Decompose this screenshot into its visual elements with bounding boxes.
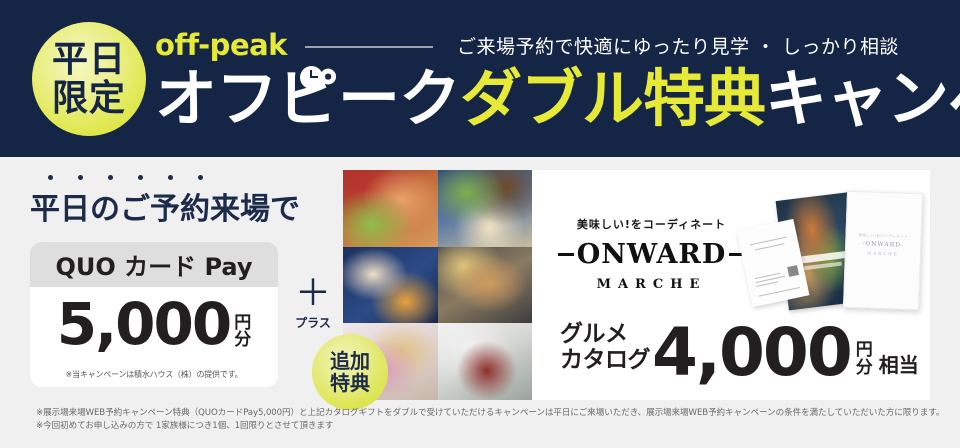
- offpeak-label: off-peak: [155, 28, 287, 62]
- food-photo-roast-pork: [438, 247, 533, 324]
- onward-logo-block: 美味しい!をコーディネート ONWARD MARCHE: [554, 216, 749, 292]
- onward-logo: ONWARD: [554, 239, 749, 270]
- dot: [108, 175, 113, 180]
- gourmet-label-1: グルメ: [560, 322, 650, 348]
- title-part-2: ダブル特典: [460, 60, 765, 138]
- additional-bonus-badge: 追加 特典: [312, 334, 388, 410]
- gourmet-equivalent: 相当: [879, 349, 919, 378]
- divider-rule: [305, 46, 433, 48]
- add-badge-line-1: 追加: [330, 350, 370, 372]
- quo-section: 平日のご予約来場で QUO カード Pay 5,000 円 分 ※当キャンペーン…: [30, 175, 310, 387]
- weekday-only-badge: 平日 限定: [32, 22, 146, 136]
- quo-unit-bottom: 分: [234, 332, 251, 349]
- food-photo-salad-drinks: [438, 170, 533, 247]
- plus-icon: ＋: [290, 279, 336, 309]
- brand-name: ONWARD: [577, 239, 727, 270]
- dot: [198, 175, 203, 180]
- dot: [168, 175, 173, 180]
- offpeak-row: off-peak ご来場予約で快適にゆったり見学 ・ しっかり相談: [155, 28, 945, 62]
- food-photo-beef-tataki: [438, 323, 533, 400]
- left-lead-text: 平日のご予約来場で: [30, 184, 310, 228]
- gourmet-label: グルメ カタログ: [560, 322, 650, 374]
- catalog-photo-sublogo: [804, 262, 842, 271]
- add-badge-line-2: 特典: [330, 372, 370, 394]
- dot: [78, 175, 83, 180]
- clock-hand-minute: [311, 76, 318, 78]
- footer-line-1: ※展示場来場WEB予約キャンペーン特典（QUOカードPay5,000円）と上記カ…: [36, 407, 936, 420]
- quo-amount: 5,000: [57, 295, 230, 353]
- gourmet-label-2: カタログ: [560, 348, 650, 374]
- badge-line-1: 平日: [52, 42, 126, 78]
- onward-marche-panel: 美味しい!をコーディネート ONWARD MARCHE: [532, 170, 930, 400]
- logo-bar-left: [558, 253, 574, 256]
- banner-header: 平日 限定 off-peak ご来場予約で快適にゆったり見学 ・ しっかり相談 …: [0, 0, 960, 157]
- qr-code-icon: [787, 265, 799, 277]
- gourmet-unit-bottom: 分: [856, 359, 873, 377]
- quo-card-body: 5,000 円 分 ※当キャンペーンは積水ハウス（株）の提供です。: [30, 287, 278, 387]
- catalog-white-sub: MARCHE: [846, 250, 920, 258]
- footer-line-2: ※今回初めてお申し込みの方で 1家族様につき1個、1回限りとさせて頂きます: [36, 420, 936, 433]
- dot: [48, 175, 53, 180]
- plus-label: プラス: [290, 314, 336, 331]
- brand-sub: MARCHE: [554, 277, 749, 292]
- food-photo-pumpkin-soup: [343, 247, 438, 324]
- clock-icon: [300, 66, 323, 89]
- promo-banner: 平日 限定 off-peak ご来場予約で快適にゆったり見学 ・ しっかり相談 …: [0, 0, 960, 448]
- gourmet-amount: 4,000: [652, 323, 851, 383]
- card-line: [755, 243, 785, 250]
- gourmet-amount-row: グルメ カタログ 4,000 円 分 相当: [560, 322, 919, 383]
- footer-disclaimer: ※展示場来場WEB予約キャンペーン特典（QUOカードPay5,000円）と上記カ…: [36, 407, 936, 433]
- card-line: [756, 281, 778, 287]
- quo-card-title: QUO カード Pay: [55, 247, 252, 282]
- header-tagline: ご来場予約で快適にゆったり見学 ・ しっかり相談: [457, 32, 899, 59]
- quo-unit: 円 分: [234, 315, 251, 349]
- food-photo-sausage-platter: [343, 170, 438, 247]
- catalog-white-name: -ONWARD-: [846, 240, 920, 250]
- gourmet-unit-top: 円: [856, 341, 873, 359]
- quo-card: QUO カード Pay 5,000 円 分 ※当キャンペーンは積水ハウス（株）の…: [30, 242, 278, 387]
- quo-note: ※当キャンペーンは積水ハウス（株）の提供です。: [30, 369, 278, 380]
- title-part-3: キャンペーン: [765, 60, 960, 138]
- banner-body: 平日のご予約来場で QUO カード Pay 5,000 円 分 ※当キャンペーン…: [0, 157, 960, 448]
- quo-card-header: QUO カード Pay: [30, 242, 278, 287]
- catalog-artwork: 美味しい!をコーディネート -ONWARD- MARCHE: [742, 188, 927, 333]
- gourmet-unit: 円 分: [856, 341, 873, 378]
- plus-connector: ＋ プラス: [290, 279, 336, 331]
- badge-line-2: 限定: [52, 81, 126, 117]
- emphasis-dots: [30, 175, 310, 180]
- quo-amount-row: 5,000 円 分: [30, 287, 278, 353]
- brand-tagline: 美味しい!をコーディネート: [554, 216, 749, 232]
- dot: [138, 175, 143, 180]
- header-title: オフピーク ダブル特典 キャンペーン: [155, 58, 960, 140]
- card-line: [758, 287, 799, 297]
- catalog-white-cover: 美味しい!をコーディネート -ONWARD- MARCHE: [843, 191, 923, 311]
